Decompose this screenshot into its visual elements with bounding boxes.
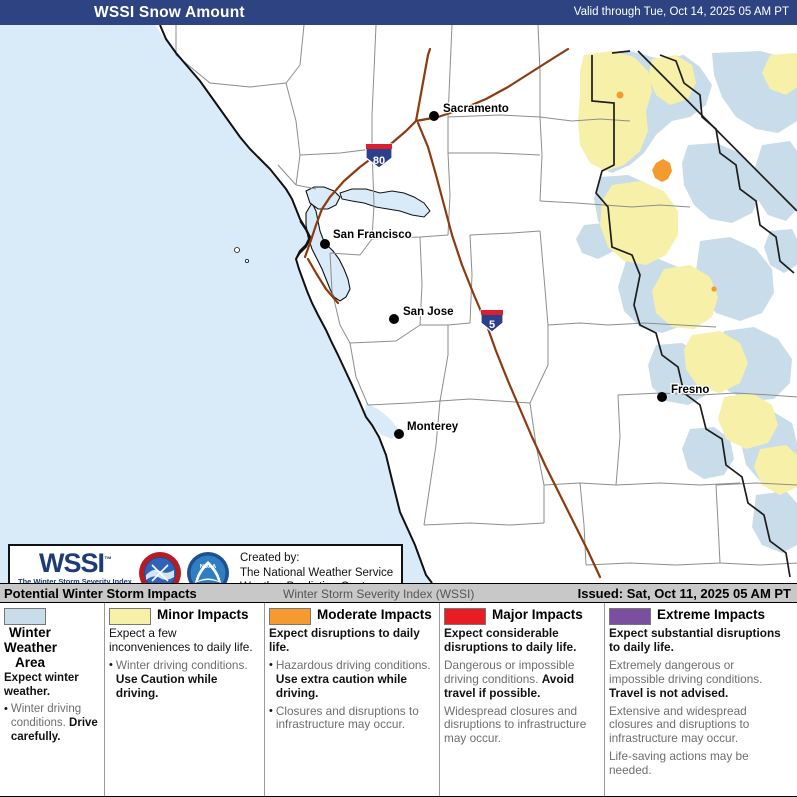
bullet-text: Winter driving conditions. Use Caution w… — [116, 659, 259, 701]
legend-lead: Expect substantial disruptions to daily … — [609, 627, 792, 655]
impact-legend: Winter Weather Area Expect winter weathe… — [0, 603, 797, 797]
bullet-text: Winter driving conditions. Drive careful… — [11, 703, 99, 744]
legend-body: Expect a few inconveniences to daily lif… — [109, 627, 259, 701]
bullet-dot: • — [269, 705, 273, 733]
bullet-text: Extremely dangerous or impossible drivin… — [609, 659, 792, 701]
legend-title: Minor Impacts — [157, 607, 249, 622]
legend-body: Expect substantial disruptions to daily … — [609, 627, 792, 778]
svg-text:5: 5 — [489, 319, 495, 331]
legend-body: Expect considerable disruptions to daily… — [444, 627, 599, 746]
legend-body: Expect winter weather. • Winter driving … — [4, 672, 99, 744]
issued-label: Issued: Sat, Oct 11, 2025 05 AM PT — [578, 586, 791, 601]
valid-through-label: Valid through Tue, Oct 14, 2025 05 AM PT — [574, 6, 789, 18]
legend-bullet: Extensive and widespread closures and di… — [609, 705, 792, 747]
legend-lead: Expect considerable disruptions to daily… — [444, 627, 599, 655]
wssi-logo-box: WSSI™ The Winter Storm Severity Index — [8, 544, 403, 583]
farallon-island — [235, 248, 240, 253]
created-by-line-2: The National Weather Service — [240, 566, 393, 581]
bullet-dot: • — [269, 659, 273, 701]
legend-header: Extreme Impacts — [609, 607, 792, 625]
legend-title: Winter Weather Area — [4, 625, 56, 670]
bullet-text: Extensive and widespread closures and di… — [609, 705, 792, 747]
wssi-logo: WSSI™ The Winter Storm Severity Index — [16, 551, 134, 583]
svg-text:NOAA: NOAA — [200, 564, 216, 570]
legend-header: Major Impacts — [444, 607, 599, 625]
map-canvas[interactable]: 80 5 Sacramento San Francisco — [0, 25, 797, 583]
legend-body: Expect disruptions to daily life. • Haza… — [269, 627, 434, 732]
moderate-patch-small — [617, 92, 624, 99]
svg-text:Monterey: Monterey — [407, 421, 459, 433]
legend-bullet: • Winter driving conditions. Drive caref… — [4, 703, 99, 744]
impact-header-bar: Potential Winter Storm Impacts Winter St… — [0, 583, 797, 603]
legend-col-major-impacts[interactable]: Major Impacts Expect considerable disrup… — [440, 603, 605, 796]
svg-text:Fresno: Fresno — [671, 384, 709, 396]
legend-header: Moderate Impacts — [269, 607, 434, 625]
svg-text:San Jose: San Jose — [403, 306, 454, 318]
legend-lead: Expect disruptions to daily life. — [269, 627, 434, 655]
created-by-line-1: Created by: — [240, 551, 393, 566]
legend-bullet: • Winter driving conditions. Use Caution… — [109, 659, 259, 701]
legend-lead: Expect winter weather. — [4, 672, 99, 699]
wssi-snow-amount-page: WSSI Snow Amount Valid through Tue, Oct … — [0, 0, 797, 797]
bullet-text: Closures and disruptions to infrastructu… — [276, 705, 434, 733]
legend-bullet: Widespread closures and disruptions to i… — [444, 705, 599, 747]
legend-title: Extreme Impacts — [657, 607, 765, 622]
bullet-text: Life-saving actions may be needed. — [609, 750, 792, 778]
swatch-minor-impacts — [109, 608, 151, 625]
legend-bullet: • Hazardous driving conditions. Use extr… — [269, 659, 434, 701]
page-title: WSSI Snow Amount — [94, 4, 245, 22]
legend-lead: Expect a few inconveniences to daily lif… — [109, 627, 259, 655]
wssi-subtitle-heading: Winter Storm Severity Index (WSSI) — [283, 587, 474, 601]
legend-col-extreme-impacts[interactable]: Extreme Impacts Expect substantial disru… — [605, 603, 797, 796]
bullet-dot: • — [109, 659, 113, 701]
svg-text:Sacramento: Sacramento — [443, 103, 509, 115]
created-by-text: Created by: The National Weather Service… — [240, 551, 393, 583]
legend-title: Major Impacts — [492, 607, 583, 622]
farallon-island-2 — [245, 259, 248, 262]
bullet-text: Hazardous driving conditions. Use extra … — [276, 659, 434, 701]
noaa-seal-icon: NOAA — [186, 551, 230, 583]
svg-text:San Francisco: San Francisco — [333, 229, 412, 241]
legend-bullet: • Closures and disruptions to infrastruc… — [269, 705, 434, 733]
impacts-heading: Potential Winter Storm Impacts — [4, 586, 197, 601]
swatch-major-impacts — [444, 608, 486, 625]
swatch-winter-weather-area — [4, 608, 46, 625]
wssi-wordmark: WSSI™ — [16, 551, 134, 577]
title-bar: WSSI Snow Amount Valid through Tue, Oct … — [0, 0, 797, 25]
legend-bullet: Dangerous or impossible driving conditio… — [444, 659, 599, 701]
legend-bullet: Life-saving actions may be needed. — [609, 750, 792, 778]
swatch-extreme-impacts — [609, 608, 651, 625]
legend-bullet: Extremely dangerous or impossible drivin… — [609, 659, 792, 701]
legend-col-winter-weather-area[interactable]: Winter Weather Area Expect winter weathe… — [0, 603, 105, 796]
bullet-dot: • — [4, 703, 8, 744]
bullet-text: Widespread closures and disruptions to i… — [444, 705, 599, 747]
legend-title: Moderate Impacts — [317, 607, 432, 622]
bullet-text: Dangerous or impossible driving conditio… — [444, 659, 599, 701]
swatch-moderate-impacts — [269, 608, 311, 625]
moderate-patch-small-2 — [711, 286, 716, 291]
legend-header: Winter Weather Area — [4, 607, 99, 670]
legend-col-moderate-impacts[interactable]: Moderate Impacts Expect disruptions to d… — [265, 603, 440, 796]
legend-col-minor-impacts[interactable]: Minor Impacts Expect a few inconvenience… — [105, 603, 265, 796]
map-svg: 80 5 Sacramento San Francisco — [0, 25, 797, 583]
nws-seal-icon — [138, 551, 182, 583]
svg-text:80: 80 — [373, 155, 385, 167]
legend-header: Minor Impacts — [109, 607, 259, 625]
